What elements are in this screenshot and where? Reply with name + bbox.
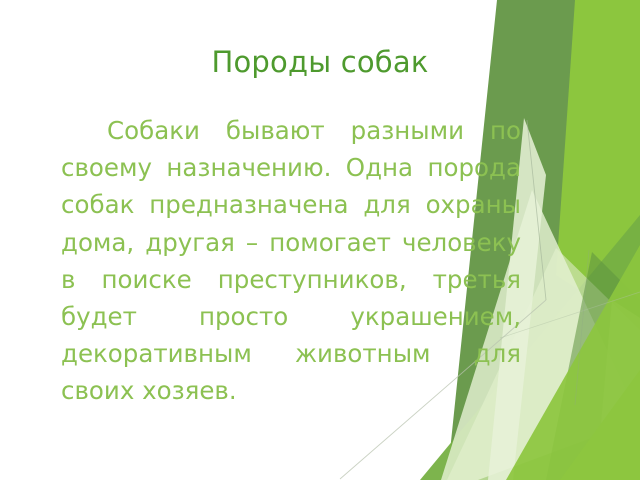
page-title: Породы собак [0,44,640,80]
presentation-slide: Породы собак Собаки бывают разными по св… [0,0,640,480]
slide-body-text: Собаки бывают разными по своему назначен… [61,112,521,410]
slide-content: Породы собак Собаки бывают разными по св… [0,0,640,480]
